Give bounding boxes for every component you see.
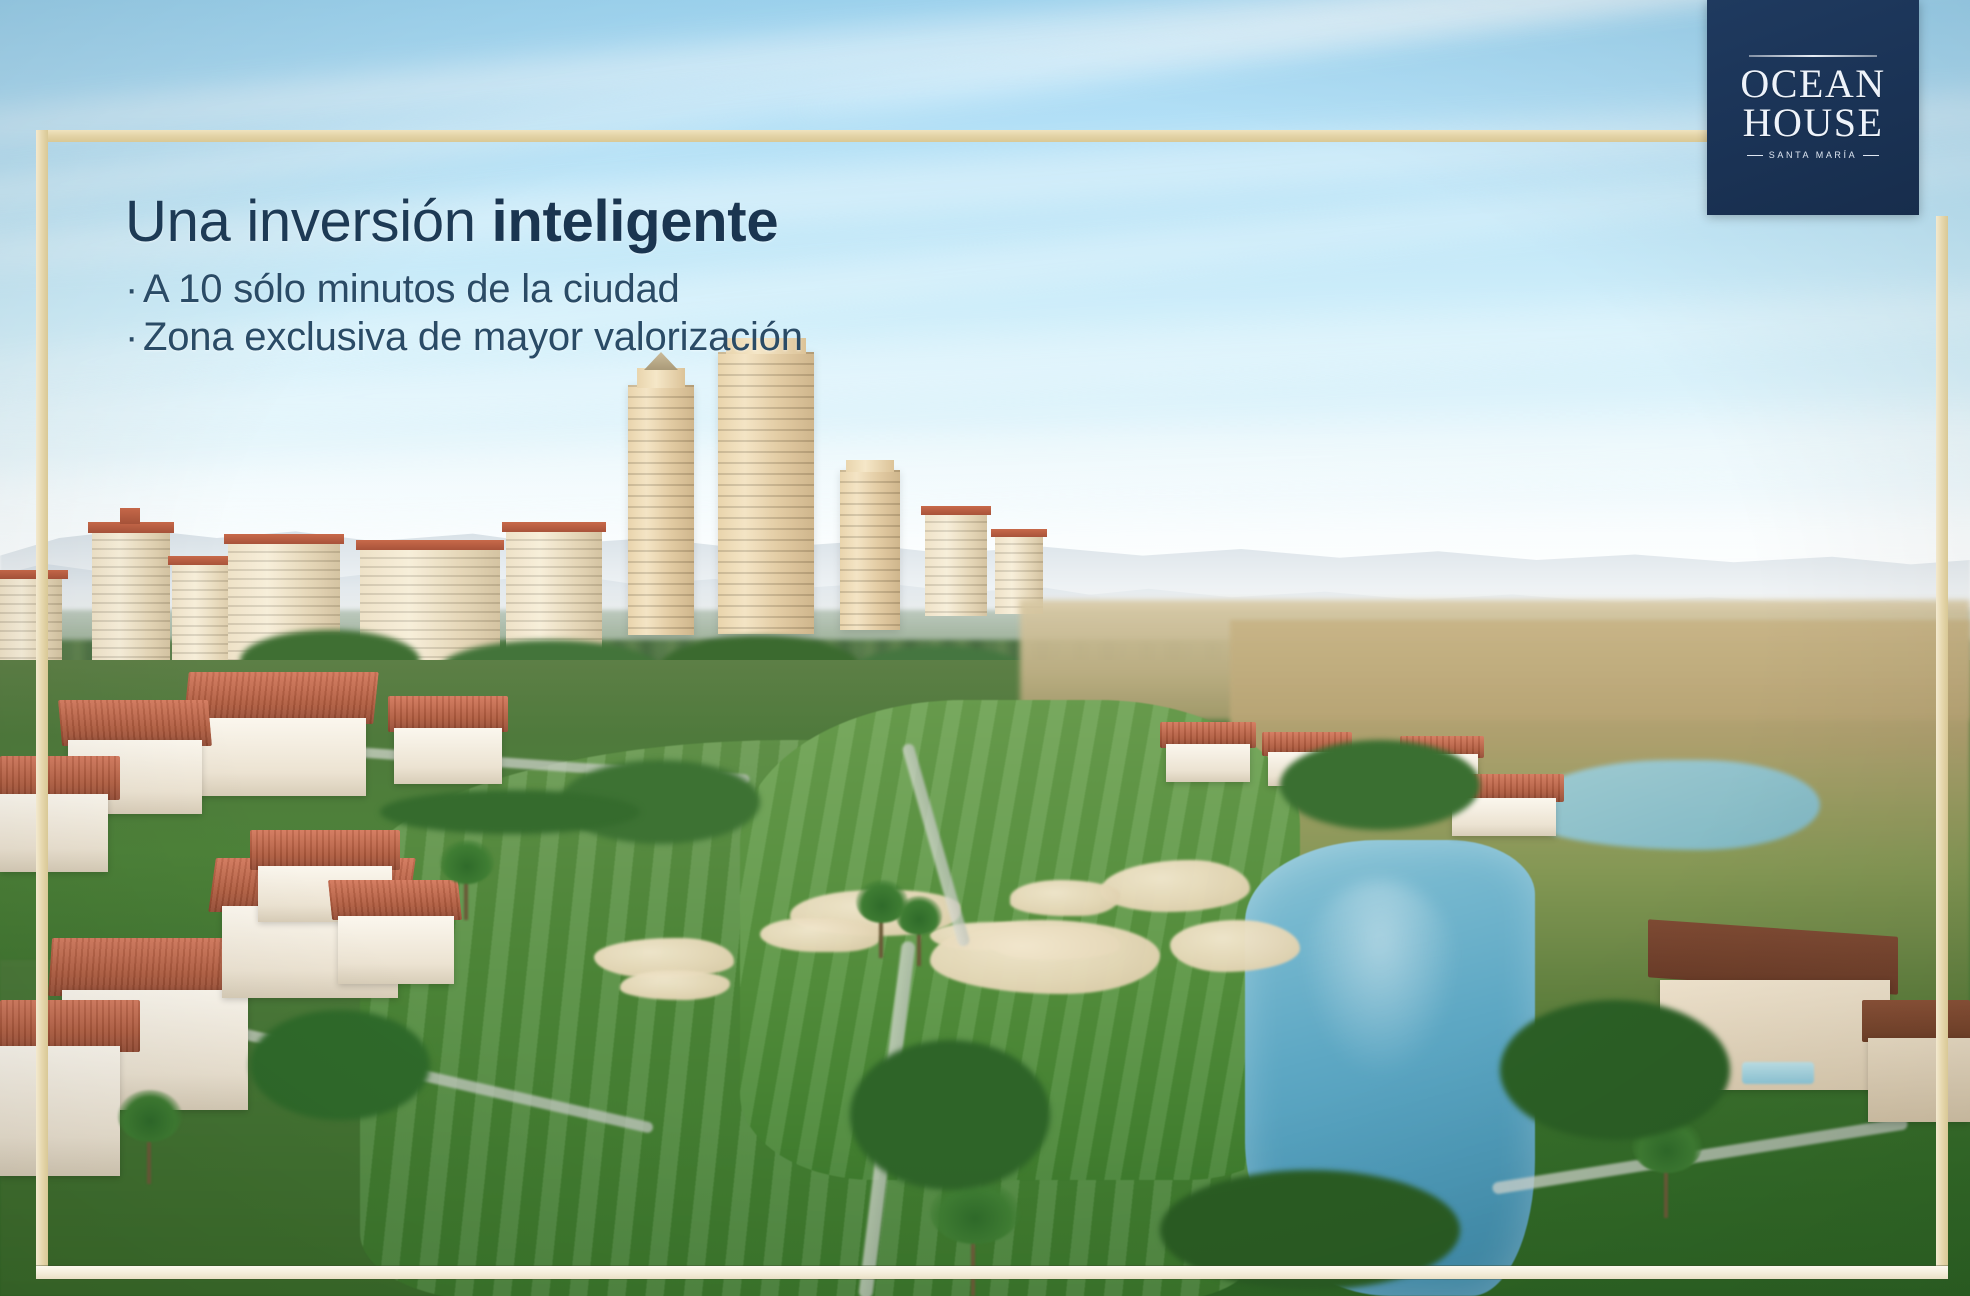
copy-block: Una inversión inteligente ·A 10 sólo min… [125,192,1225,377]
palm-crown [896,896,942,935]
palm-tree [118,1090,182,1184]
mid-rise-roof [0,570,68,579]
logo-subtitle: SANTA MARÍA [1769,150,1857,160]
palm-crown [440,840,494,884]
villa-body [196,718,366,796]
mid-rise-roof [921,506,991,515]
high-rise-tower [628,385,694,635]
tree-cluster [1500,1000,1730,1140]
villa-roof [0,1000,140,1052]
mid-rise-block [92,530,170,660]
mid-rise-roof [502,522,606,532]
headline-regular: Una inversión [125,189,492,254]
villa-body [0,1046,120,1176]
tree-cluster [850,1040,1050,1190]
palm-tree [896,896,942,966]
swimming-pool [1742,1062,1814,1084]
bullet-marker: · [125,314,143,361]
mid-rise-block [0,576,62,668]
frame-border-left [36,130,48,1278]
bullet-marker: · [125,266,143,313]
frame-border-top [36,130,1708,142]
villa-body [0,794,108,872]
tree-cluster [250,1010,430,1120]
frame-border-right [1936,216,1948,1278]
ocean-house-logo[interactable]: OCEAN HOUSE SANTA MARÍA [1707,0,1919,215]
logo-rule-top [1749,55,1877,57]
villa-roof [183,672,378,724]
logo-subtitle-row: SANTA MARÍA [1747,150,1879,160]
mid-rise-roof [356,540,504,550]
villa-roof [250,830,400,870]
mid-rise-roof [991,529,1047,537]
villa-roof [388,696,508,732]
benefits-list: ·A 10 sólo minutos de la ciudad ·Zona ex… [125,266,1225,360]
villa-body [1166,744,1250,782]
palm-crown [118,1090,182,1142]
tower-crown [846,460,894,472]
tree-cluster [1280,740,1480,830]
headline-emphasis: inteligente [492,189,779,254]
marketing-slide: OCEAN HOUSE SANTA MARÍA Una inversión in… [0,0,1970,1296]
palm-tree [440,840,494,920]
high-rise-tower [840,470,900,630]
mid-rise-block [925,512,987,616]
mansion-wing-body [1868,1038,1970,1122]
list-item: ·Zona exclusiva de mayor valorización [125,314,1225,361]
logo-dash-right [1863,155,1879,157]
high-rise-tower [718,352,814,634]
villa-body [394,728,502,784]
logo-word-house: HOUSE [1743,105,1884,142]
bullet-text: A 10 sólo minutos de la ciudad [143,267,680,311]
page-title: Una inversión inteligente [125,192,1225,252]
frame-border-bottom [36,1266,1948,1279]
logo-lockup: OCEAN HOUSE SANTA MARÍA [1749,55,1877,161]
logo-dash-left [1747,155,1763,157]
shrub-row [380,790,640,834]
mid-rise-roof [224,534,344,544]
sand-bunker [1010,880,1120,916]
bullet-text: Zona exclusiva de mayor valorización [143,315,803,359]
lake-reflection [1300,880,1460,1080]
sand-bunker [620,970,730,1000]
list-item: ·A 10 sólo minutos de la ciudad [125,266,1225,313]
sand-bunker [1170,920,1300,972]
villa-body [338,916,454,984]
mansion-wing-roof [1862,1000,1970,1042]
logo-word-ocean: OCEAN [1740,66,1885,103]
rooftop-cupola [120,508,140,524]
